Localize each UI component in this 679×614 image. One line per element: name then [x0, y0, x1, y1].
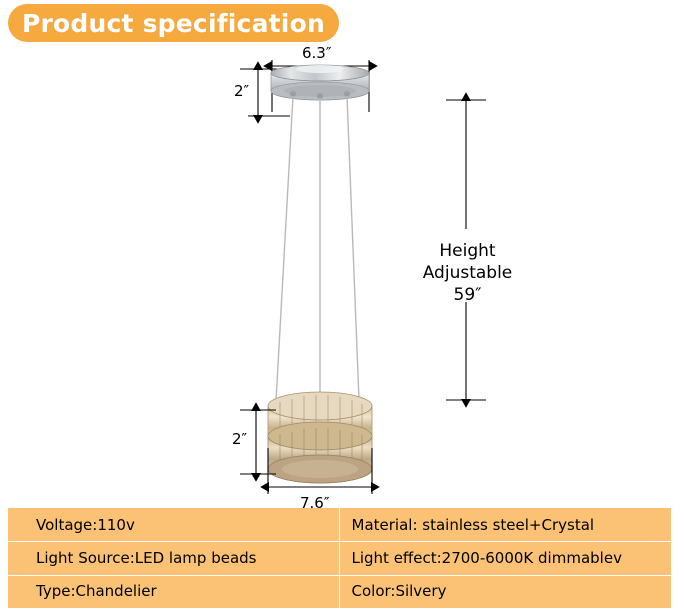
table-column-divider — [339, 508, 340, 608]
spec-light-effect: Light effect:2700-6000K dimmablev — [340, 541, 672, 574]
product-diagram: 6.3″ 2″ 2″ 7.6″ Height Adjustable 59″ — [0, 44, 679, 504]
page-title: Product specification — [22, 9, 325, 38]
dimension-canopy-diameter: 6.3″ — [302, 44, 331, 62]
height-adjustable-line2: Adjustable — [410, 262, 525, 284]
page-title-banner: Product specification — [8, 4, 339, 42]
product-drawing-svg — [0, 44, 679, 504]
dimension-canopy-height: 2″ — [234, 82, 249, 100]
spec-light-source: Light Source:LED lamp beads — [8, 541, 340, 574]
height-adjustable-label: Height Adjustable 59″ — [410, 240, 525, 306]
spec-voltage: Voltage:110v — [8, 508, 340, 541]
height-adjustable-line3: 59″ — [410, 284, 525, 306]
dimension-shade-height: 2″ — [232, 430, 247, 448]
height-adjustable-line1: Height — [410, 240, 525, 262]
spec-color: Color:Silvery — [340, 575, 672, 608]
spec-material: Material: stainless steel+Crystal — [340, 508, 672, 541]
specification-table: Voltage:110v Material: stainless steel+C… — [8, 508, 671, 608]
spec-type: Type:Chandelier — [8, 575, 340, 608]
